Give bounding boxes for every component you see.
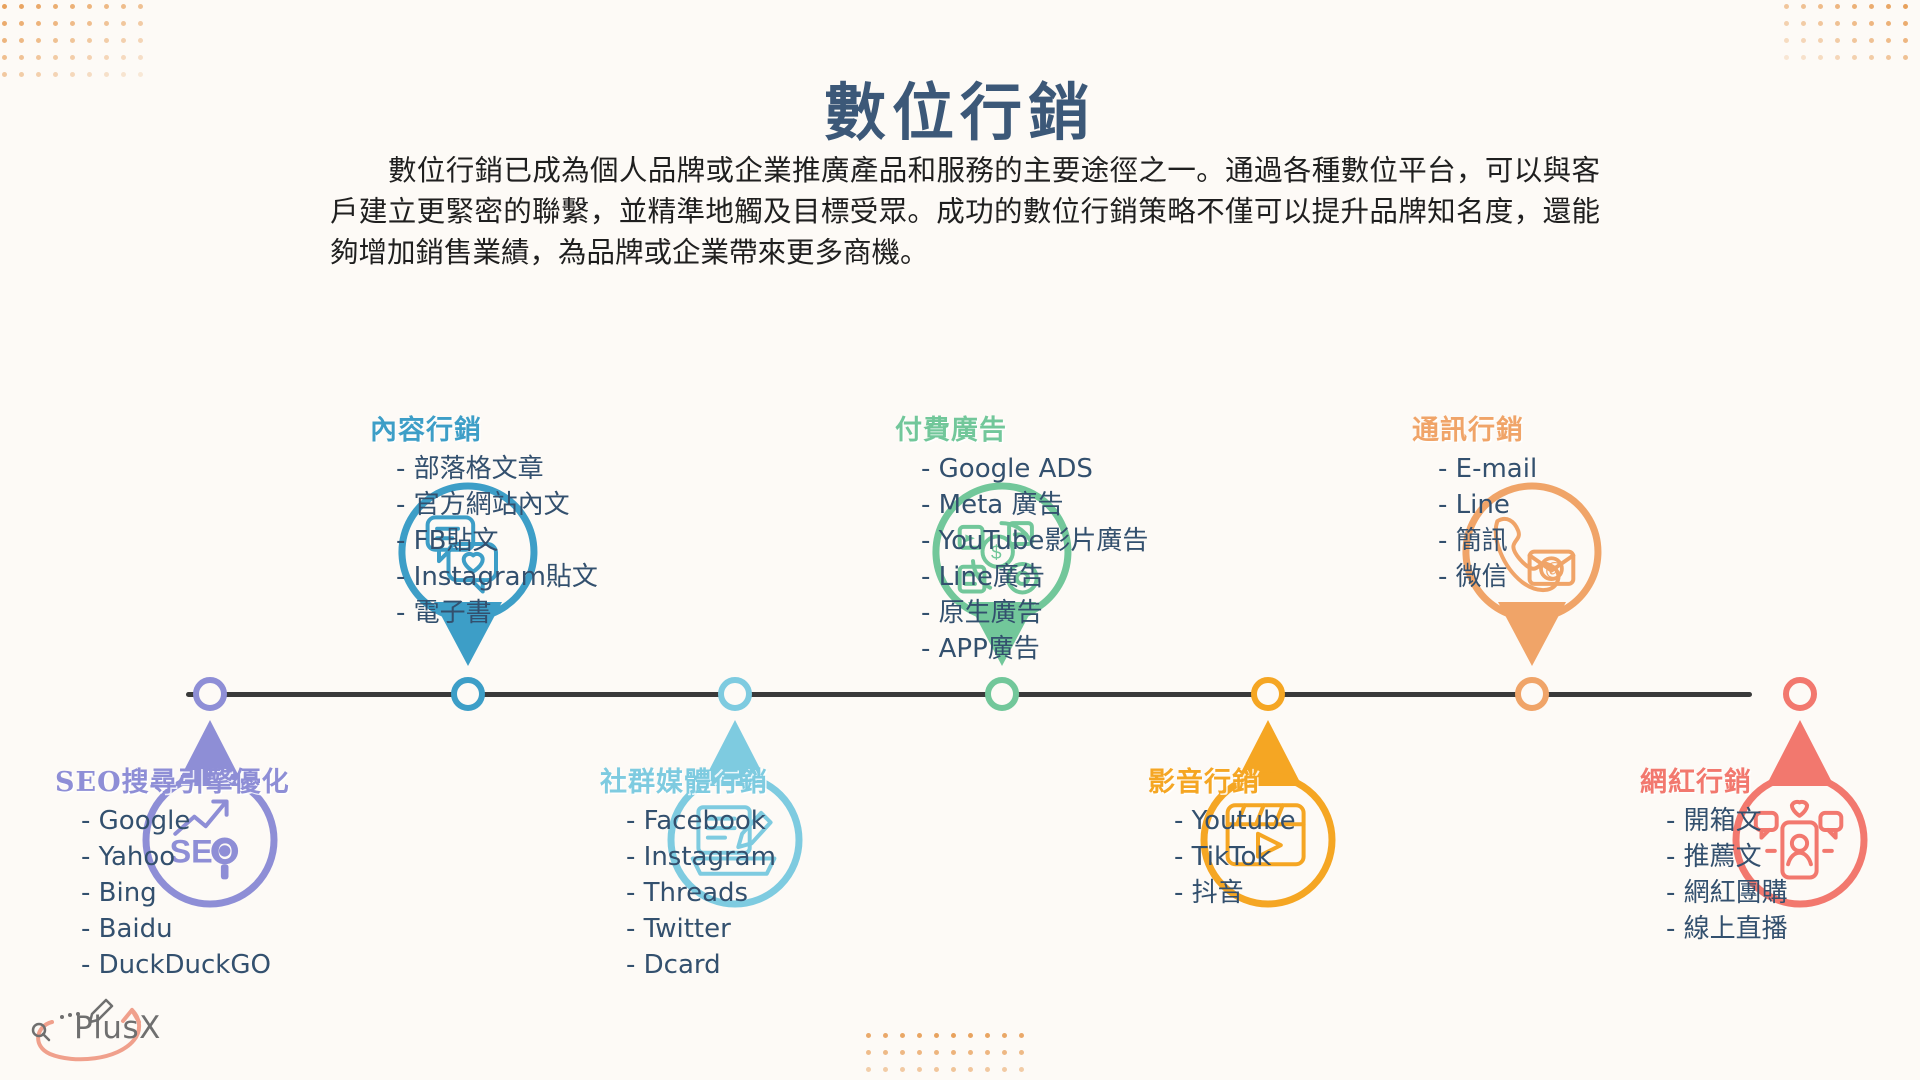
decorative-dot bbox=[1852, 21, 1857, 26]
decorative-dot bbox=[1903, 55, 1908, 60]
decorative-dot bbox=[1903, 38, 1908, 43]
decorative-dot bbox=[121, 55, 126, 60]
decorative-dot bbox=[866, 1050, 871, 1055]
decorative-dot bbox=[104, 4, 109, 9]
decorative-dot bbox=[1019, 1033, 1024, 1038]
decorative-dot bbox=[951, 1050, 956, 1055]
decorative-dot bbox=[1852, 4, 1857, 9]
list-item: - TikTok bbox=[1174, 839, 1296, 875]
decorative-dot bbox=[2, 38, 7, 43]
decorative-dot bbox=[883, 1067, 888, 1072]
decorative-dot bbox=[1818, 55, 1823, 60]
decorative-dot bbox=[1784, 21, 1789, 26]
timeline-node-dot-messaging[interactable] bbox=[1515, 677, 1549, 711]
decorative-dot bbox=[104, 55, 109, 60]
decorative-dot bbox=[104, 38, 109, 43]
decorative-dot bbox=[87, 55, 92, 60]
decorative-dot bbox=[1801, 4, 1806, 9]
list-item: - Facebook bbox=[626, 803, 776, 839]
decorative-dot bbox=[138, 38, 143, 43]
decorative-dot bbox=[917, 1067, 922, 1072]
decorative-dot bbox=[1886, 55, 1891, 60]
decorative-dot bbox=[917, 1050, 922, 1055]
decorative-dot bbox=[1869, 55, 1874, 60]
decorative-dot bbox=[1801, 21, 1806, 26]
list-item: - 網紅團購 bbox=[1666, 875, 1788, 911]
decorative-dot bbox=[1002, 1033, 1007, 1038]
decorative-dot bbox=[1835, 4, 1840, 9]
decorative-dot bbox=[53, 21, 58, 26]
decorative-dot bbox=[138, 55, 143, 60]
node-list-messaging: - E-mail- Line- 簡訊- 微信 bbox=[1412, 451, 1537, 595]
timeline-node-dot-content[interactable] bbox=[451, 677, 485, 711]
node-list-video: - Youtube- TikTok- 抖音 bbox=[1148, 803, 1296, 911]
node-heading-seo: SEO搜尋引擎優化 bbox=[55, 760, 290, 799]
list-item: - Line bbox=[1438, 487, 1537, 523]
decorative-dot bbox=[1869, 21, 1874, 26]
node-text-messaging: 通訊行銷- E-mail- Line- 簡訊- 微信 bbox=[1412, 408, 1537, 595]
decorative-dot bbox=[917, 1033, 922, 1038]
node-text-paidads: 付費廣告- Google ADS- Meta 廣告- YouTube影片廣告- … bbox=[895, 408, 1148, 667]
decorative-dot bbox=[19, 38, 24, 43]
node-list-paidads: - Google ADS- Meta 廣告- YouTube影片廣告- Line… bbox=[895, 451, 1148, 667]
node-heading-messaging: 通訊行銷 bbox=[1412, 408, 1537, 447]
list-item: - 電子書 bbox=[396, 595, 598, 631]
decorative-dot bbox=[883, 1033, 888, 1038]
decorative-dot bbox=[951, 1067, 956, 1072]
list-item: - Twitter bbox=[626, 911, 776, 947]
decorative-dot bbox=[866, 1067, 871, 1072]
decorative-dot bbox=[53, 55, 58, 60]
list-item: - 微信 bbox=[1438, 559, 1537, 595]
decorative-dot bbox=[968, 1033, 973, 1038]
decorative-dot bbox=[1019, 1050, 1024, 1055]
decorative-dot bbox=[36, 38, 41, 43]
node-list-content: - 部落格文章- 官方網站內文- FB貼文- Instagram貼文- 電子書 bbox=[370, 451, 598, 631]
list-item: - 開箱文 bbox=[1666, 803, 1788, 839]
timeline-node-dot-video[interactable] bbox=[1251, 677, 1285, 711]
decorative-dot bbox=[70, 38, 75, 43]
infographic-canvas: 數位行銷 數位行銷已成為個人品牌或企業推廣產品和服務的主要途徑之一。通過各種數位… bbox=[0, 0, 1920, 1080]
node-heading-social: 社群媒體行銷 bbox=[600, 760, 776, 799]
decorative-dot bbox=[36, 55, 41, 60]
decorative-dot bbox=[1784, 4, 1789, 9]
list-item: - Meta 廣告 bbox=[921, 487, 1148, 523]
decorative-dot bbox=[87, 21, 92, 26]
decorative-dot bbox=[951, 1033, 956, 1038]
decorative-dot bbox=[900, 1050, 905, 1055]
decorative-dot bbox=[87, 4, 92, 9]
list-item: - 推薦文 bbox=[1666, 839, 1788, 875]
decorative-dot bbox=[1801, 55, 1806, 60]
decorative-dot bbox=[70, 55, 75, 60]
decorative-dot bbox=[1002, 1067, 1007, 1072]
node-text-video: 影音行銷- Youtube- TikTok- 抖音 bbox=[1148, 760, 1296, 911]
decorative-dot bbox=[985, 1067, 990, 1072]
decorative-dot bbox=[53, 4, 58, 9]
decorative-dot bbox=[934, 1033, 939, 1038]
node-heading-content: 內容行銷 bbox=[370, 408, 598, 447]
list-item: - Google bbox=[81, 803, 290, 839]
decorative-dot bbox=[36, 21, 41, 26]
list-item: - 官方網站內文 bbox=[396, 487, 598, 523]
list-item: - E-mail bbox=[1438, 451, 1537, 487]
decorative-dot bbox=[985, 1050, 990, 1055]
node-list-seo: - Google- Yahoo- Bing- Baidu- DuckDuckGO bbox=[55, 803, 290, 983]
decorative-dot bbox=[121, 21, 126, 26]
page-title: 數位行銷 bbox=[0, 62, 1920, 152]
list-item: - Dcard bbox=[626, 947, 776, 983]
decorative-dot bbox=[1903, 21, 1908, 26]
decorative-dot bbox=[900, 1067, 905, 1072]
decorative-dot bbox=[934, 1050, 939, 1055]
decorative-dot bbox=[1835, 38, 1840, 43]
decorative-dot bbox=[121, 38, 126, 43]
decorative-dot bbox=[121, 4, 126, 9]
timeline-node-dot-influencer[interactable] bbox=[1783, 677, 1817, 711]
list-item: - YouTube影片廣告 bbox=[921, 523, 1148, 559]
decorative-dot bbox=[2, 21, 7, 26]
decorative-dot bbox=[1818, 21, 1823, 26]
decorative-dot bbox=[138, 4, 143, 9]
list-item: - APP廣告 bbox=[921, 631, 1148, 667]
decorative-dot bbox=[2, 55, 7, 60]
decorative-dot bbox=[883, 1050, 888, 1055]
list-item: - Yahoo bbox=[81, 839, 290, 875]
list-item: - FB貼文 bbox=[396, 523, 598, 559]
list-item: - 部落格文章 bbox=[396, 451, 598, 487]
decorative-dot bbox=[19, 21, 24, 26]
decorative-dot bbox=[1801, 38, 1806, 43]
decorative-dot bbox=[900, 1033, 905, 1038]
node-heading-influencer: 網紅行銷 bbox=[1640, 760, 1788, 799]
list-item: - 簡訊 bbox=[1438, 523, 1537, 559]
decorative-dot bbox=[866, 1033, 871, 1038]
decorative-dot bbox=[104, 21, 109, 26]
decorative-dot bbox=[1818, 38, 1823, 43]
timeline-node-dot-seo[interactable] bbox=[193, 677, 227, 711]
decorative-dot bbox=[1869, 4, 1874, 9]
decorative-dot bbox=[70, 4, 75, 9]
decorative-dot bbox=[1886, 21, 1891, 26]
list-item: - Line廣告 bbox=[921, 559, 1148, 595]
decorative-dot bbox=[53, 38, 58, 43]
decorative-dot bbox=[19, 55, 24, 60]
node-text-content: 內容行銷- 部落格文章- 官方網站內文- FB貼文- Instagram貼文- … bbox=[370, 408, 598, 631]
dot-grid-top-right-decoration bbox=[1778, 0, 1914, 66]
decorative-dot bbox=[1886, 4, 1891, 9]
plusx-logo: PlusX bbox=[22, 988, 172, 1068]
node-text-seo: SEO搜尋引擎優化- Google- Yahoo- Bing- Baidu- D… bbox=[55, 760, 290, 983]
decorative-dot bbox=[1852, 38, 1857, 43]
list-item: - 抖音 bbox=[1174, 875, 1296, 911]
list-item: - Bing bbox=[81, 875, 290, 911]
timeline-node-dot-paidads[interactable] bbox=[985, 677, 1019, 711]
decorative-dot bbox=[19, 4, 24, 9]
list-item: - Threads bbox=[626, 875, 776, 911]
dot-grid-bottom-decoration bbox=[860, 1027, 1030, 1078]
node-text-social: 社群媒體行銷- Facebook- Instagram- Threads- Tw… bbox=[600, 760, 776, 983]
node-heading-paidads: 付費廣告 bbox=[895, 408, 1148, 447]
intro-paragraph: 數位行銷已成為個人品牌或企業推廣產品和服務的主要途徑之一。通過各種數位平台，可以… bbox=[330, 150, 1600, 273]
decorative-dot bbox=[1835, 21, 1840, 26]
decorative-dot bbox=[1903, 4, 1908, 9]
decorative-dot bbox=[1886, 38, 1891, 43]
decorative-dot bbox=[985, 1033, 990, 1038]
node-list-social: - Facebook- Instagram- Threads- Twitter-… bbox=[600, 803, 776, 983]
decorative-dot bbox=[70, 21, 75, 26]
svg-text:@: @ bbox=[1545, 559, 1563, 579]
list-item: - Instagram bbox=[626, 839, 776, 875]
list-item: - Youtube bbox=[1174, 803, 1296, 839]
timeline-node-dot-social[interactable] bbox=[718, 677, 752, 711]
decorative-dot bbox=[138, 21, 143, 26]
decorative-dot bbox=[87, 38, 92, 43]
decorative-dot bbox=[1869, 38, 1874, 43]
node-list-influencer: - 開箱文- 推薦文- 網紅團購- 線上直播 bbox=[1640, 803, 1788, 947]
decorative-dot bbox=[36, 4, 41, 9]
decorative-dot bbox=[2, 4, 7, 9]
decorative-dot bbox=[1784, 38, 1789, 43]
node-heading-video: 影音行銷 bbox=[1148, 760, 1296, 799]
logo-text: PlusX bbox=[74, 1010, 161, 1046]
decorative-dot bbox=[1002, 1050, 1007, 1055]
list-item: - Instagram貼文 bbox=[396, 559, 598, 595]
list-item: - Baidu bbox=[81, 911, 290, 947]
decorative-dot bbox=[1784, 55, 1789, 60]
list-item: - Google ADS bbox=[921, 451, 1148, 487]
node-text-influencer: 網紅行銷- 開箱文- 推薦文- 網紅團購- 線上直播 bbox=[1640, 760, 1788, 947]
decorative-dot bbox=[1835, 55, 1840, 60]
decorative-dot bbox=[1818, 4, 1823, 9]
decorative-dot bbox=[1852, 55, 1857, 60]
list-item: - 原生廣告 bbox=[921, 595, 1148, 631]
decorative-dot bbox=[934, 1067, 939, 1072]
list-item: - DuckDuckGO bbox=[81, 947, 290, 983]
list-item: - 線上直播 bbox=[1666, 911, 1788, 947]
decorative-dot bbox=[968, 1050, 973, 1055]
decorative-dot bbox=[968, 1067, 973, 1072]
decorative-dot bbox=[1019, 1067, 1024, 1072]
